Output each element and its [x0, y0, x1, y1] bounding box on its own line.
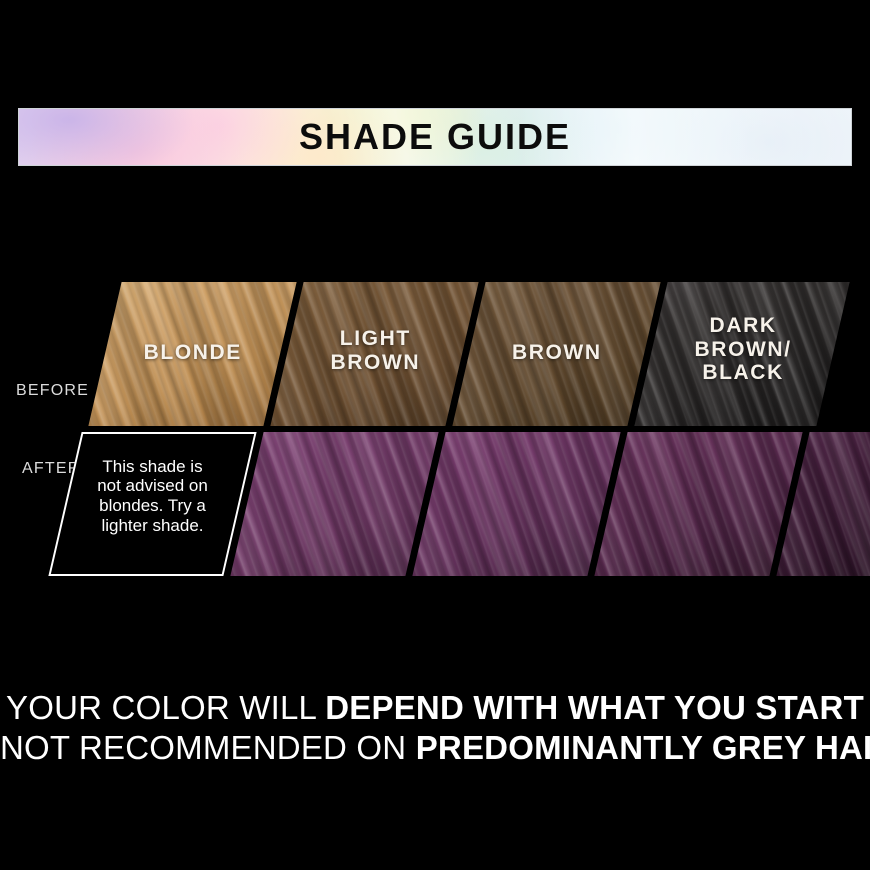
- hair-strands-overlay: [88, 282, 296, 426]
- shade-guide-banner: SHADE GUIDE: [18, 108, 852, 166]
- footer-disclaimer: YOUR COLOR WILL DEPEND WITH WHAT YOU STA…: [0, 688, 870, 769]
- footer-line-1-thin: YOUR COLOR WILL: [6, 689, 325, 726]
- after-swatch-blonde[interactable]: [230, 432, 438, 576]
- light-brown-hair-texture: [270, 282, 478, 426]
- footer-line-1-bold: DEPEND WITH WHAT YOU START: [325, 689, 864, 726]
- brown-hair-texture: [452, 282, 660, 426]
- purple-hair-texture-3: [594, 432, 802, 576]
- hair-strands-overlay: [230, 432, 438, 576]
- shade-guide-page: SHADE GUIDE BEFORE AFTER BLONDE LIGHT BR…: [0, 0, 870, 870]
- before-swatch-brown[interactable]: BROWN: [452, 282, 660, 426]
- blonde-hair-texture: [88, 282, 296, 426]
- before-swatch-dark-brown-black[interactable]: DARK BROWN/ BLACK: [634, 282, 849, 426]
- before-swatch-blonde[interactable]: BLONDE: [88, 282, 296, 426]
- hair-strands-overlay: [634, 282, 849, 426]
- hair-sheen-overlay: [270, 282, 478, 426]
- hair-sheen-overlay: [230, 432, 438, 576]
- hair-strands-overlay: [270, 282, 478, 426]
- shade-comparison-grid: BEFORE AFTER BLONDE LIGHT BROWN: [0, 282, 870, 576]
- purple-hair-texture-2: [412, 432, 620, 576]
- blonde-warning-box: This shade is not advised on blondes. Tr…: [48, 432, 256, 576]
- hair-strands-overlay: [452, 282, 660, 426]
- after-row: This shade is not advised on blondes. Tr…: [0, 432, 870, 576]
- page-title: SHADE GUIDE: [299, 116, 571, 158]
- dark-brown-black-hair-texture: [634, 282, 849, 426]
- hair-sheen-overlay: [88, 282, 296, 426]
- before-row: BLONDE LIGHT BROWN BROWN: [0, 282, 870, 426]
- hair-sheen-overlay: [594, 432, 802, 576]
- footer-line-1: YOUR COLOR WILL DEPEND WITH WHAT YOU STA…: [0, 688, 870, 728]
- footer-line-2-thin: NOT RECOMMENDED ON: [0, 729, 416, 766]
- purple-hair-texture-1: [230, 432, 438, 576]
- hair-sheen-overlay: [452, 282, 660, 426]
- after-swatch-brown[interactable]: [594, 432, 802, 576]
- before-swatch-light-brown[interactable]: LIGHT BROWN: [270, 282, 478, 426]
- hair-strands-overlay: [594, 432, 802, 576]
- after-swatch-light-brown[interactable]: [412, 432, 620, 576]
- hair-sheen-overlay: [634, 282, 849, 426]
- footer-line-2: NOT RECOMMENDED ON PREDOMINANTLY GREY HA…: [0, 728, 870, 768]
- hair-strands-overlay: [412, 432, 620, 576]
- hair-sheen-overlay: [412, 432, 620, 576]
- blonde-warning-text: This shade is not advised on blondes. Tr…: [67, 434, 238, 574]
- footer-line-2-bold: PREDOMINANTLY GREY HAIR.: [416, 729, 870, 766]
